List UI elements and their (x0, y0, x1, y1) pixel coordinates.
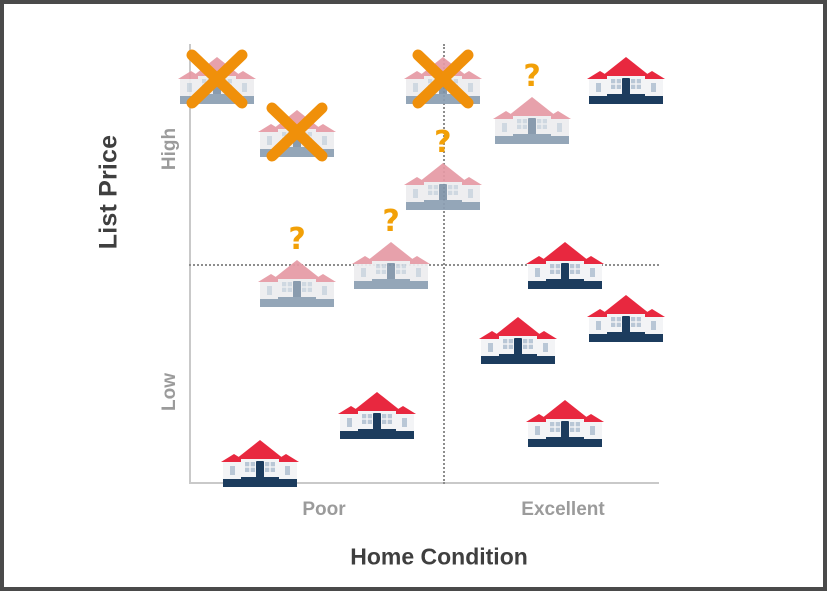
house-marker (526, 237, 604, 291)
house-marker (404, 158, 482, 212)
y-axis-title: List Price (95, 135, 124, 250)
house-marker (258, 255, 336, 309)
house-marker (352, 237, 430, 291)
x-axis-title: Home Condition (350, 544, 528, 571)
house-marker (338, 387, 416, 441)
question-mark-icon: ? (288, 225, 305, 255)
house-marker (479, 312, 557, 366)
x-tick-poor: Poor (302, 499, 345, 521)
house-marker (587, 52, 665, 106)
house-marker (404, 52, 482, 106)
plot-area: ? ? (189, 44, 659, 484)
house-marker (258, 105, 336, 159)
house-marker (587, 290, 665, 344)
chart-frame: List Price High Low Poor Excellent Home … (0, 0, 827, 591)
question-mark-icon: ? (523, 62, 540, 92)
x-tick-excellent: Excellent (521, 499, 604, 521)
y-tick-low: Low (159, 373, 181, 411)
question-mark-icon: ? (382, 207, 399, 237)
y-tick-high: High (159, 128, 181, 170)
house-marker (221, 435, 299, 489)
house-marker (178, 52, 256, 106)
house-marker (526, 395, 604, 449)
house-marker (493, 92, 571, 146)
